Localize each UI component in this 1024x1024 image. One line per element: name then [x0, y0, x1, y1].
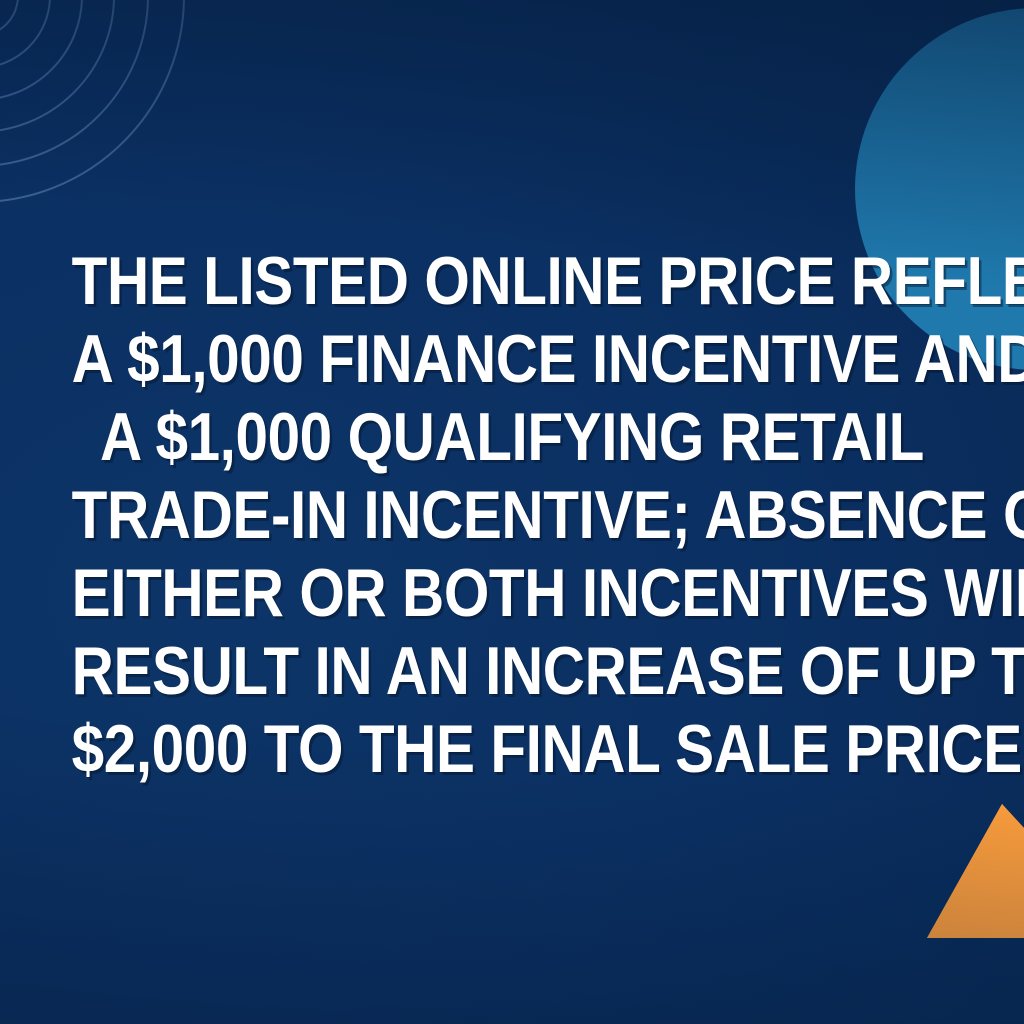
disclaimer-line: THE LISTED ONLINE PRICE REFLECTS [72, 242, 953, 320]
disclaimer-line: A $1,000 FINANCE INCENTIVE AND [72, 320, 953, 398]
disclaimer-line: $2,000 TO THE FINAL SALE PRICE. [72, 710, 953, 788]
disclaimer-line: RESULT IN AN INCREASE OF UP TO [72, 632, 953, 710]
disclaimer-text-block: THE LISTED ONLINE PRICE REFLECTS A $1,00… [0, 0, 1024, 1024]
disclaimer-line: TRADE-IN INCENTIVE; ABSENCE OF [72, 476, 953, 554]
promotional-disclaimer-graphic: THE LISTED ONLINE PRICE REFLECTS A $1,00… [0, 0, 1024, 1024]
disclaimer-line: EITHER OR BOTH INCENTIVES WILL [72, 554, 953, 632]
disclaimer-line: A $1,000 QUALIFYING RETAIL [72, 398, 953, 476]
